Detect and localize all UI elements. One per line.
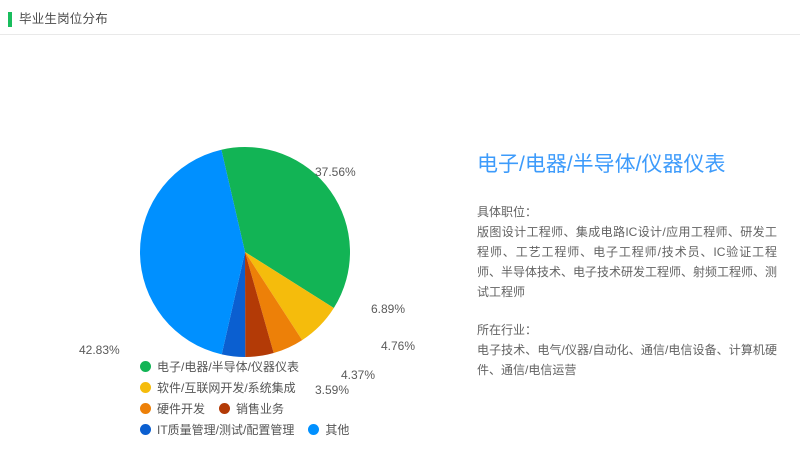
legend-item[interactable]: 硬件开发: [140, 402, 205, 416]
pie-chart-panel: 37.56% 6.89% 4.76% 4.37% 3.59% 42.83% 电子…: [0, 40, 460, 449]
slice-value-hardware: 4.76%: [381, 339, 415, 353]
header-divider: [0, 34, 800, 35]
legend-color-dot: [308, 424, 319, 435]
legend-item[interactable]: 其他: [308, 423, 349, 437]
legend-row: 硬件开发销售业务: [140, 398, 460, 419]
pie-chart[interactable]: 37.56% 6.89% 4.76% 4.37% 3.59% 42.83%: [0, 40, 460, 360]
legend-item-label: IT质量管理/测试/配置管理: [157, 423, 294, 437]
legend-color-dot: [140, 382, 151, 393]
slice-value-electronics: 37.56%: [315, 165, 356, 179]
page-title: 毕业生岗位分布: [19, 11, 108, 27]
legend-row: IT质量管理/测试/配置管理其他: [140, 419, 460, 440]
legend-item-label: 硬件开发: [157, 402, 205, 416]
industry-text: 电子技术、电气/仪器/自动化、通信/电信设备、计算机硬件、通信/电信运营: [477, 340, 777, 380]
legend-item[interactable]: 电子/电器/半导体/仪器仪表: [140, 360, 299, 374]
legend-item-label: 软件/互联网开发/系统集成: [157, 381, 296, 395]
positions-text: 版图设计工程师、集成电路IC设计/应用工程师、研发工程师、工艺工程师、电子工程师…: [477, 222, 777, 302]
slice-value-software: 6.89%: [371, 302, 405, 316]
positions-label: 具体职位：: [477, 202, 787, 222]
legend-item[interactable]: 销售业务: [219, 402, 284, 416]
legend-item[interactable]: IT质量管理/测试/配置管理: [140, 423, 294, 437]
chart-legend[interactable]: 电子/电器/半导体/仪器仪表软件/互联网开发/系统集成硬件开发销售业务IT质量管…: [140, 356, 460, 440]
legend-color-dot: [140, 403, 151, 414]
category-detail-panel: 电子/电器/半导体/仪器仪表 具体职位： 版图设计工程师、集成电路IC设计/应用…: [477, 150, 787, 380]
slice-value-other: 42.83%: [79, 343, 120, 357]
legend-item[interactable]: 软件/互联网开发/系统集成: [140, 381, 296, 395]
industry-block: 所在行业： 电子技术、电气/仪器/自动化、通信/电信设备、计算机硬件、通信/电信…: [477, 320, 787, 380]
category-heading: 电子/电器/半导体/仪器仪表: [477, 150, 787, 180]
legend-item-label: 电子/电器/半导体/仪器仪表: [157, 360, 299, 374]
legend-item-label: 其他: [325, 423, 349, 437]
legend-item-label: 销售业务: [236, 402, 284, 416]
legend-color-dot: [140, 361, 151, 372]
legend-row: 软件/互联网开发/系统集成: [140, 377, 460, 398]
legend-color-dot: [140, 424, 151, 435]
page-header: 毕业生岗位分布: [0, 0, 800, 34]
legend-row: 电子/电器/半导体/仪器仪表: [140, 356, 460, 377]
header-accent-bar: [8, 12, 12, 27]
industry-label: 所在行业：: [477, 320, 787, 340]
legend-color-dot: [219, 403, 230, 414]
positions-block: 具体职位： 版图设计工程师、集成电路IC设计/应用工程师、研发工程师、工艺工程师…: [477, 202, 787, 302]
